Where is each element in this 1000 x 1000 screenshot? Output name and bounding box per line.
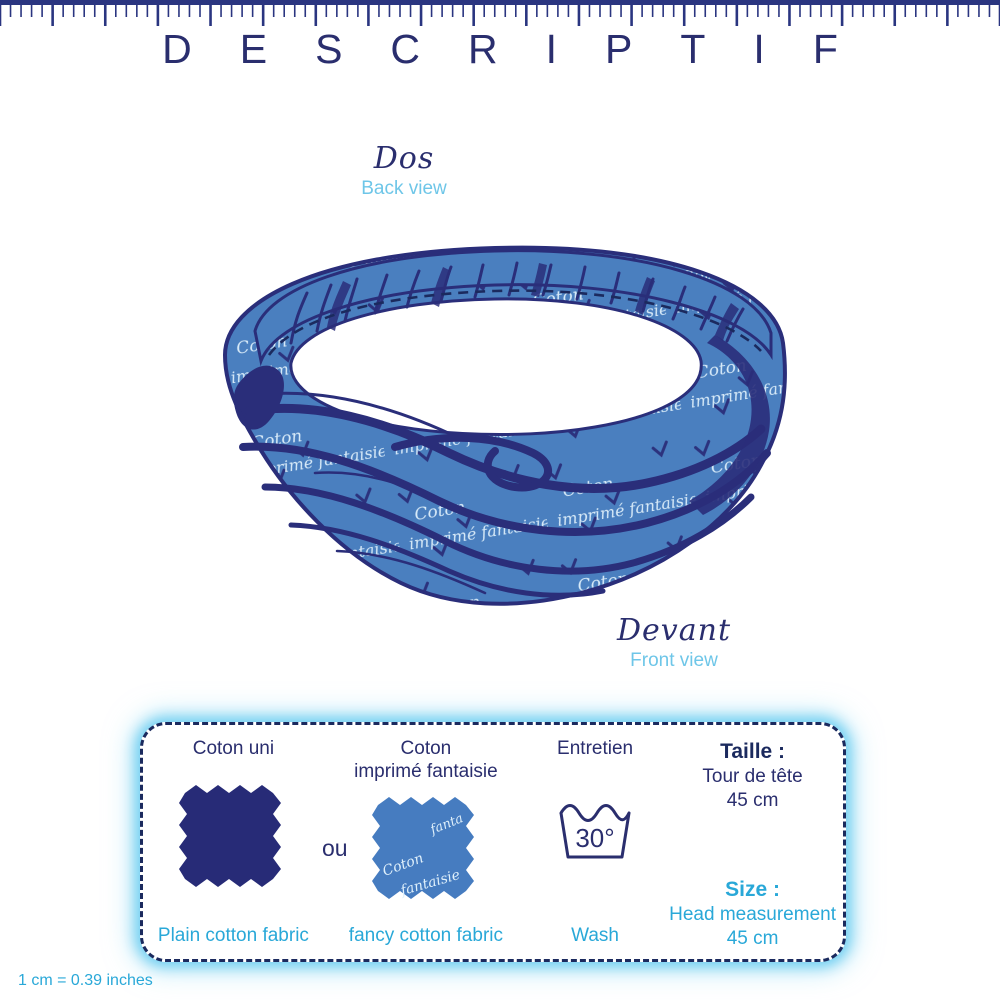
size-value-en: 45 cm <box>662 927 843 951</box>
info-box: Coton uni Plain cotton fabric Coton impr… <box>140 722 846 962</box>
front-view-label-en: Front view <box>524 648 824 674</box>
back-view-label-fr: Dos <box>254 142 554 176</box>
plain-fabric-caption: Plain cotton fabric <box>143 924 324 947</box>
size-measure-fr: Tour de tête <box>666 765 839 789</box>
care-cell: Entretien 30° Wash <box>528 725 662 959</box>
back-view-label: Dos Back view <box>254 142 554 202</box>
front-view-label-fr: Devant <box>524 614 824 648</box>
wash-temperature: 30° <box>575 823 614 853</box>
plain-fabric-title: Coton uni <box>147 737 320 760</box>
size-title-en: Size : <box>662 876 843 903</box>
page-title: DESCRIPTIF <box>0 26 1000 73</box>
printed-fabric-title-line2: imprimé fantaisie <box>354 761 498 782</box>
printed-fabric-caption: fancy cotton fabric <box>324 924 528 947</box>
conversion-note: 1 cm = 0.39 inches <box>18 972 153 990</box>
wash-tub-icon: 30° <box>555 801 635 863</box>
or-separator: ou <box>322 835 348 862</box>
size-cell: Taille : Tour de tête 45 cm Size : Head … <box>662 725 843 959</box>
front-view-label: Devant Front view <box>524 614 824 674</box>
size-value-fr: 45 cm <box>666 789 839 813</box>
size-measure-en: Head measurement <box>662 903 843 927</box>
care-caption: Wash <box>528 924 662 947</box>
plain-fabric-swatch <box>179 783 287 891</box>
printed-fabric-title: Coton imprimé fantaisie <box>328 737 524 783</box>
plain-fabric-cell: Coton uni Plain cotton fabric <box>143 725 324 959</box>
printed-fabric-title-line1: Coton <box>401 738 452 759</box>
size-title-fr: Taille : <box>666 739 839 765</box>
headband-illustration: Coton imprimé fantaisie <box>195 215 815 615</box>
printed-fabric-cell: Coton imprimé fantaisie fanta Coton fant… <box>324 725 528 959</box>
back-view-label-en: Back view <box>254 176 554 202</box>
printed-fabric-swatch: fanta Coton fantaisie <box>372 795 480 903</box>
care-title: Entretien <box>532 737 658 760</box>
